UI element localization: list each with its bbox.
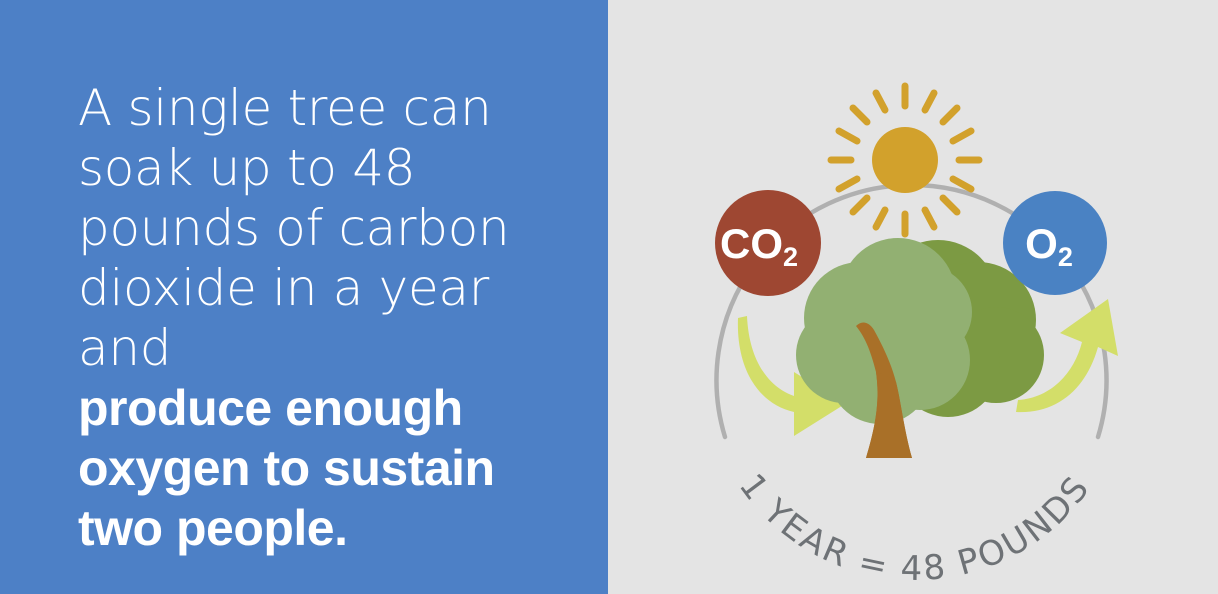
arc-caption: 1 YEAR = 48 POUNDS (731, 466, 1099, 589)
co2-badge-subscript: 2 (783, 242, 798, 272)
co2-badge-main: CO (720, 220, 783, 267)
arc-caption-text: 1 YEAR = 48 POUNDS (731, 466, 1099, 589)
headline-line-2: soak up to 48 (78, 138, 578, 198)
headline-bold-line-3: two people. (78, 498, 578, 558)
o2-badge-subscript: 2 (1058, 242, 1073, 272)
tree-icon (796, 238, 1044, 458)
tree-cycle-diagram: CO2 O2 1 YEAR = 48 POUNDS (608, 0, 1218, 594)
headline-line-4: dioxide in a year and (78, 258, 578, 378)
infographic-canvas: A single tree can soak up to 48 pounds o… (0, 0, 1218, 594)
headline-line-1: A single tree can (78, 78, 578, 138)
o2-badge: O2 (1003, 191, 1107, 295)
sun-icon (831, 86, 979, 234)
headline-line-3: pounds of carbon (78, 198, 578, 258)
o2-badge-main: O (1025, 220, 1058, 267)
page-title: A single tree can soak up to 48 pounds o… (78, 78, 578, 558)
headline-bold-line-2: oxygen to sustain (78, 438, 578, 498)
headline-bold-line-1: produce enough (78, 378, 578, 438)
co2-badge: CO2 (715, 190, 821, 296)
